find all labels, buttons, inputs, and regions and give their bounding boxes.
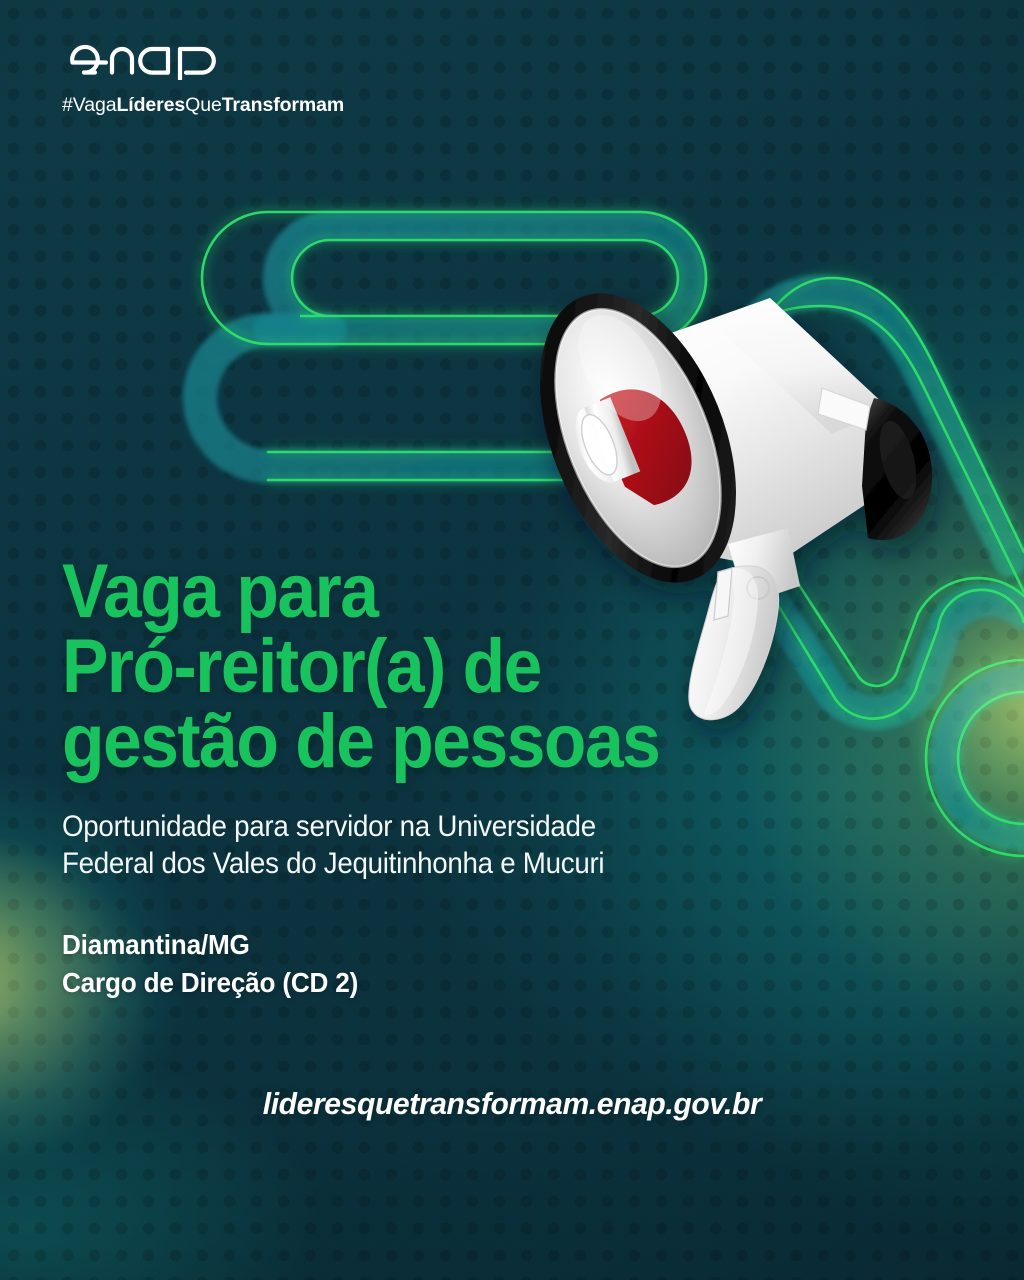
website-url[interactable]: lideresquetransformam.enap.gov.br [15, 1086, 1008, 1122]
subtitle-text: Oportunidade para servidor na Universida… [62, 808, 776, 883]
hashtag-part-1: #Vaga [62, 94, 116, 116]
hashtag-part-3: Que [185, 94, 222, 116]
job-location: Diamantina/MG [62, 926, 727, 964]
campaign-hashtag: #VagaLíderesQueTransformam [62, 94, 344, 117]
subtitle-line-2: Federal dos Vales do Jequitinhonha e Muc… [62, 845, 776, 882]
headline-line-1: Vaga para [62, 554, 757, 629]
headline-line-2: Pró-reitor(a) de [62, 629, 757, 704]
headline-line-3: gestão de pessoas [62, 704, 757, 779]
job-position: Cargo de Direção (CD 2) [62, 964, 727, 1002]
job-details: Diamantina/MG Cargo de Direção (CD 2) [62, 926, 727, 1002]
hashtag-part-4: Transformam [222, 94, 344, 116]
poster-canvas: #VagaLíderesQueTransformam Vaga para Pró… [0, 0, 1024, 1280]
brand-header: #VagaLíderesQueTransformam [62, 38, 344, 117]
page-title: Vaga para Pró-reitor(a) de gestão de pes… [62, 554, 757, 780]
enap-wordmark-logo[interactable] [62, 38, 344, 85]
hashtag-part-2: Líderes [116, 94, 185, 116]
subtitle-line-1: Oportunidade para servidor na Universida… [62, 808, 776, 845]
